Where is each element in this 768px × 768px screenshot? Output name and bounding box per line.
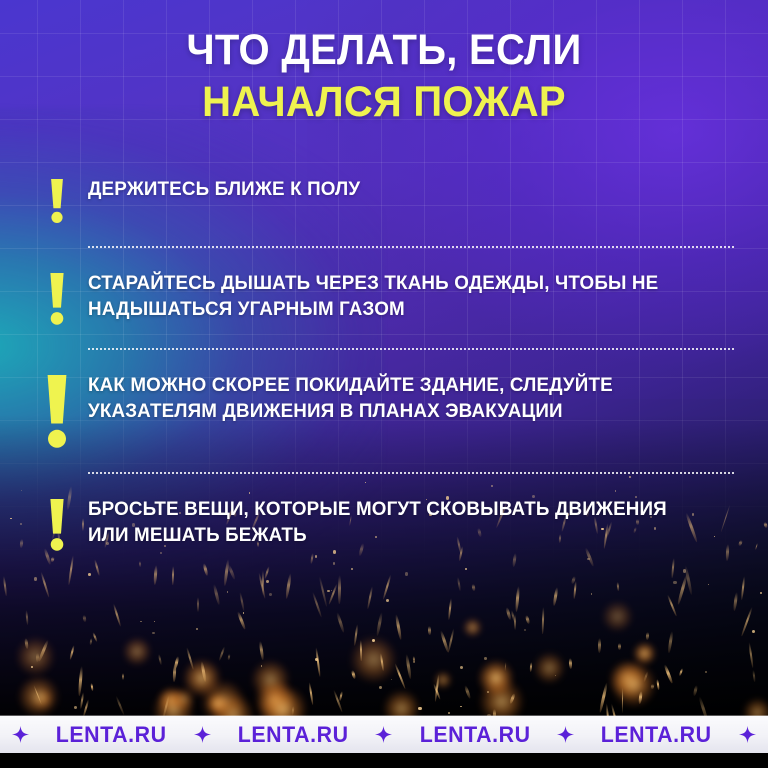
spacer xyxy=(0,350,768,372)
title-line-2: НАЧАЛСЯ ПОЖАР xyxy=(27,80,741,124)
footer-brand-strip: LENTA.RULENTA.RULENTA.RULENTA.RU xyxy=(0,716,768,753)
list-item: ДЕРЖИТЕСЬ БЛИЖЕ К ПОЛУ xyxy=(0,176,768,224)
list-item-text: СТАРАЙТЕСЬ ДЫШАТЬ ЧЕРЕЗ ТКАНЬ ОДЕЖДЫ, ЧТ… xyxy=(88,270,711,323)
exclamation-icon xyxy=(26,372,88,450)
title-line-1: ЧТО ДЕЛАТЬ, ЕСЛИ xyxy=(27,28,741,72)
footer-brand-label[interactable]: LENTA.RU xyxy=(238,722,349,748)
exclamation-icon xyxy=(26,270,88,326)
list-item: БРОСЬТЕ ВЕЩИ, КОТОРЫЕ МОГУТ СКОВЫВАТЬ ДВ… xyxy=(0,496,768,552)
footer-brand-label[interactable]: LENTA.RU xyxy=(419,722,530,748)
spacer xyxy=(0,224,768,246)
list-item: КАК МОЖНО СКОРЕЕ ПОКИДАЙТЕ ЗДАНИЕ, СЛЕДУ… xyxy=(0,372,768,450)
spacer xyxy=(0,474,768,496)
advice-list: ДЕРЖИТЕСЬ БЛИЖЕ К ПОЛУ СТАРАЙТЕСЬ ДЫШАТЬ… xyxy=(0,176,768,552)
footer-black-bar xyxy=(0,753,768,768)
spacer xyxy=(0,326,768,348)
sparkle-star-icon xyxy=(375,726,392,743)
list-item-text: КАК МОЖНО СКОРЕЕ ПОКИДАЙТЕ ЗДАНИЕ, СЛЕДУ… xyxy=(88,372,711,425)
exclamation-icon xyxy=(26,176,88,224)
sparkle-star-icon xyxy=(739,726,756,743)
list-item-text: БРОСЬТЕ ВЕЩИ, КОТОРЫЕ МОГУТ СКОВЫВАТЬ ДВ… xyxy=(88,496,711,549)
spacer xyxy=(0,248,768,270)
exclamation-icon xyxy=(26,496,88,552)
poster-title: ЧТО ДЕЛАТЬ, ЕСЛИ НАЧАЛСЯ ПОЖАР xyxy=(0,28,768,125)
footer-brand-label[interactable]: LENTA.RU xyxy=(56,722,167,748)
spacer xyxy=(0,450,768,472)
sparkle-star-icon xyxy=(194,726,211,743)
list-item: СТАРАЙТЕСЬ ДЫШАТЬ ЧЕРЕЗ ТКАНЬ ОДЕЖДЫ, ЧТ… xyxy=(0,270,768,326)
sparkle-star-icon xyxy=(557,726,574,743)
footer-brand-label[interactable]: LENTA.RU xyxy=(601,722,712,748)
sparkle-star-icon xyxy=(12,726,29,743)
list-item-text: ДЕРЖИТЕСЬ БЛИЖЕ К ПОЛУ xyxy=(88,176,711,203)
infographic-poster: ЧТО ДЕЛАТЬ, ЕСЛИ НАЧАЛСЯ ПОЖАР ДЕРЖИТЕСЬ… xyxy=(0,0,768,768)
